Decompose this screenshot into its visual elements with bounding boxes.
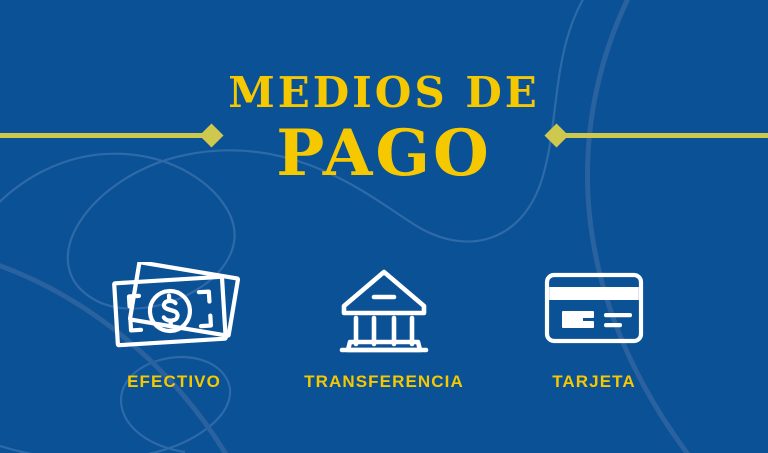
- title-line-2: PAGO: [0, 122, 768, 186]
- title-line-1: MEDIOS DE: [0, 72, 768, 114]
- cash-banknotes-icon: [108, 258, 240, 358]
- credit-card-icon: [542, 258, 646, 358]
- payment-method-label: TARJETA: [552, 372, 636, 392]
- payment-method-transferencia[interactable]: TRANSFERENCIA: [279, 258, 489, 392]
- bank-building-icon: [336, 258, 432, 358]
- payment-methods-list: EFECTIVO TRANS: [0, 258, 768, 392]
- payment-method-efectivo[interactable]: EFECTIVO: [69, 258, 279, 392]
- payment-method-label: EFECTIVO: [127, 372, 221, 392]
- payment-method-tarjeta[interactable]: TARJETA: [489, 258, 699, 392]
- poster-title: MEDIOS DE PAGO: [0, 72, 768, 186]
- payment-methods-poster: MEDIOS DE PAGO: [0, 0, 768, 453]
- payment-method-label: TRANSFERENCIA: [304, 372, 464, 392]
